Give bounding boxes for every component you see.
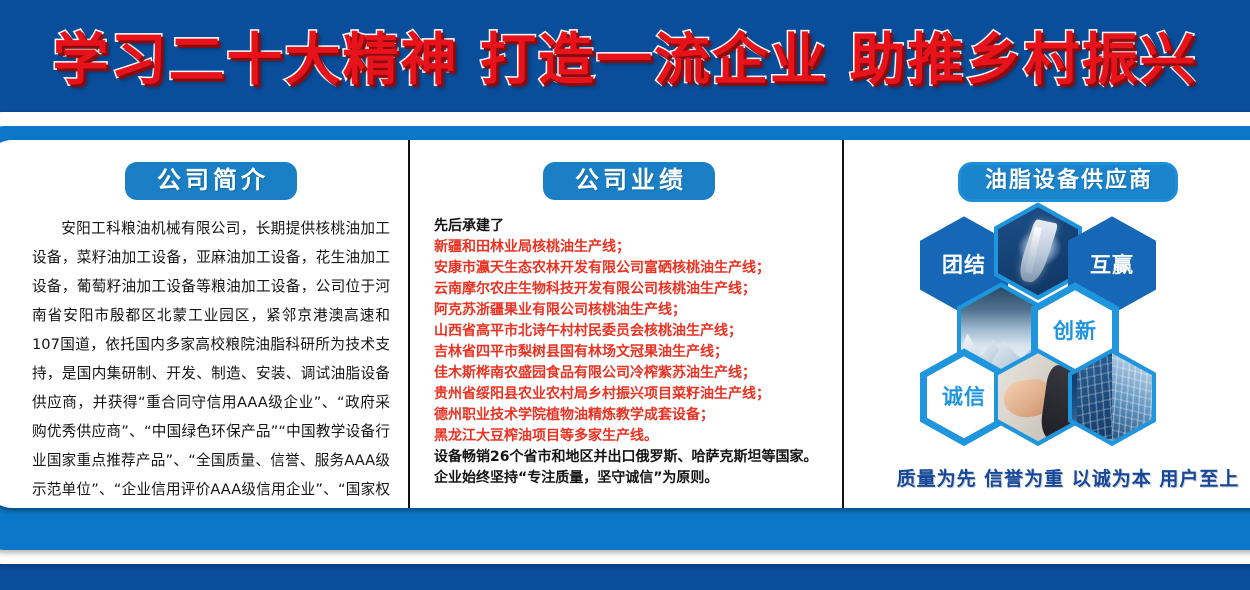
performance-project-item: 新疆和田林业局核桃油生产线； bbox=[434, 237, 824, 258]
performance-project-item: 德州职业技术学院植物油精炼教学成套设备； bbox=[434, 405, 824, 426]
performance-project-item: 安康市瀛天生态农林开发有限公司富硒核桃油生产线； bbox=[434, 258, 824, 279]
performance-project-item: 黑龙江大豆榨油项目等多家生产线。 bbox=[434, 426, 824, 447]
panel-supplier: 油脂设备供应商 团结互赢创新诚信 质量为先 信誉为重 以诚为本 用户至上 bbox=[844, 140, 1250, 508]
poster-header: 学习二十大精神 打造一流企业 助推乡村振兴 bbox=[0, 0, 1250, 110]
hexagon-label: 创新 bbox=[1053, 321, 1097, 342]
intro-body-text: 安阳工科粮油机械有限公司，长期提供核桃油加工设备，菜籽油加工设备，亚麻油加工设备… bbox=[32, 214, 390, 508]
performance-badge: 公司业绩 bbox=[543, 162, 715, 200]
performance-project-item: 吉林省四平市梨树县国有林场文冠果油生产线； bbox=[434, 342, 824, 363]
performance-project-list: 新疆和田林业局核桃油生产线；安康市瀛天生态农林开发有限公司富硒核桃油生产线；云南… bbox=[434, 237, 824, 447]
hexagon-label: 诚信 bbox=[942, 387, 986, 408]
hexagon-label: 团结 bbox=[942, 255, 986, 276]
performance-footer: 设备畅销26个省市和地区并出口俄罗斯、哈萨克斯坦等国家。企业始终坚持“专注质量，… bbox=[434, 447, 824, 489]
performance-project-item: 云南摩尔农庄生物科技开发有限公司核桃油生产线； bbox=[434, 279, 824, 300]
supplier-tagline: 质量为先 信誉为重 以诚为本 用户至上 bbox=[860, 464, 1250, 491]
performance-footer-line: 企业始终坚持“专注质量，坚守诚信”为原则。 bbox=[434, 468, 824, 489]
hexagon-label: 互赢 bbox=[1090, 255, 1134, 276]
performance-project-item: 阿克苏浙疆果业有限公司核桃油生产线； bbox=[434, 300, 824, 321]
performance-footer-line: 设备畅销26个省市和地区并出口俄罗斯、哈萨克斯坦等国家。 bbox=[434, 447, 824, 468]
intro-badge-row: 公司简介 bbox=[32, 162, 390, 200]
supplier-badge: 油脂设备供应商 bbox=[958, 162, 1178, 202]
hexagon-cluster: 团结互赢创新诚信 bbox=[918, 216, 1218, 448]
performance-project-item: 贵州省绥阳县农业农村局乡村振兴项目菜籽油生产线； bbox=[434, 384, 824, 405]
intro-badge: 公司简介 bbox=[125, 162, 297, 200]
content-area: 公司简介 安阳工科粮油机械有限公司，长期提供核桃油加工设备，菜籽油加工设备，亚麻… bbox=[0, 140, 1250, 508]
page-title: 学习二十大精神 打造一流企业 助推乡村振兴 bbox=[53, 15, 1198, 96]
panel-company-intro: 公司简介 安阳工科粮油机械有限公司，长期提供核桃油加工设备，菜籽油加工设备，亚麻… bbox=[0, 140, 408, 508]
performance-project-item: 山西省高平市北诗午村村民委员会核桃油生产线； bbox=[434, 321, 824, 342]
panel-company-performance: 公司业绩 先后承建了 新疆和田林业局核桃油生产线；安康市瀛天生态农林开发有限公司… bbox=[410, 140, 842, 508]
poster-root: 学习二十大精神 打造一流企业 助推乡村振兴 公司简介 安阳工科粮油机械有限公司，… bbox=[0, 0, 1250, 590]
performance-lead: 先后承建了 bbox=[434, 216, 824, 237]
performance-project-item: 佳木斯桦南农盛园食品有限公司冷榨紫苏油生产线； bbox=[434, 363, 824, 384]
performance-badge-row: 公司业绩 bbox=[434, 162, 824, 200]
supplier-badge-row: 油脂设备供应商 bbox=[860, 162, 1250, 202]
